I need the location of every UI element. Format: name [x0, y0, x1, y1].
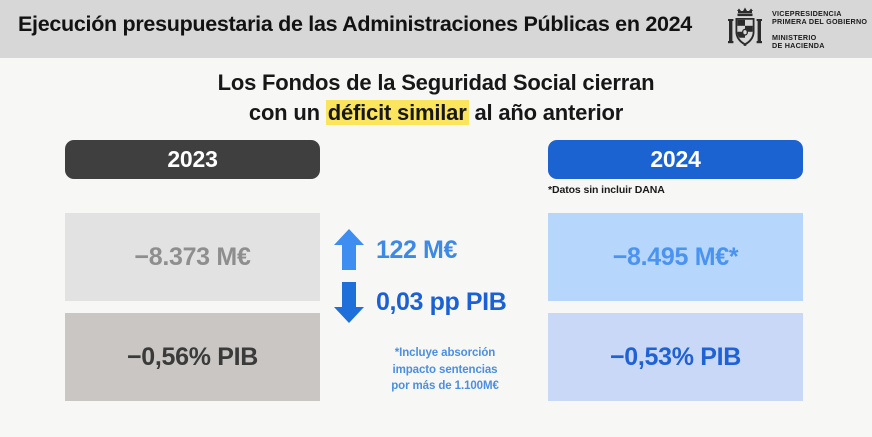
footnote-line-3: por más de 1.100M€	[350, 378, 540, 395]
value-box-2024-pib: −0,53% PIB	[548, 313, 803, 401]
arrow-down-icon	[332, 280, 366, 324]
value-box-2024-absolute: −8.495 M€*	[548, 213, 803, 301]
subtitle-line-2-prefix: con un	[249, 100, 326, 125]
subtitle-line-1: Los Fondos de la Seguridad Social cierra…	[0, 68, 872, 98]
page-title: Ejecución presupuestaria de las Administ…	[18, 12, 692, 37]
subtitle-line-2-suffix: al año anterior	[469, 100, 624, 125]
delta-row-absolute: 122 M€	[332, 225, 547, 275]
spain-coat-of-arms-icon	[726, 6, 764, 52]
dana-note: *Datos sin incluir DANA	[548, 184, 803, 196]
footnote-line-2: impacto sentencias	[350, 362, 540, 379]
delta-row-pib: 0,03 pp PIB	[332, 277, 547, 327]
subtitle: Los Fondos de la Seguridad Social cierra…	[0, 68, 872, 129]
delta-column: 122 M€ 0,03 pp PIB *Incluye absorción im…	[332, 225, 547, 395]
government-logo: VICEPRESIDENCIA PRIMERA DEL GOBIERNO MIN…	[726, 6, 867, 52]
column-2023: 2023	[65, 140, 320, 179]
logo-line-primera-del-gobierno: PRIMERA DEL GOBIERNO	[772, 18, 867, 26]
year-pill-2023: 2023	[65, 140, 320, 179]
logo-line-de-hacienda: DE HACIENDA	[772, 42, 867, 50]
government-logo-text: VICEPRESIDENCIA PRIMERA DEL GOBIERNO MIN…	[772, 8, 867, 49]
center-footnote: *Incluye absorción impacto sentencias po…	[350, 345, 540, 395]
delta-value-pib: 0,03 pp PIB	[376, 288, 506, 317]
value-box-2023-pib: −0,56% PIB	[65, 313, 320, 401]
footnote-line-1: *Incluye absorción	[350, 345, 540, 362]
arrow-up-icon	[332, 228, 366, 272]
subtitle-line-2: con un déficit similar al año anterior	[0, 98, 872, 128]
subtitle-highlight: déficit similar	[326, 100, 469, 125]
header-band: Ejecución presupuestaria de las Administ…	[0, 0, 872, 58]
value-box-2023-absolute: −8.373 M€	[65, 213, 320, 301]
year-pill-2024: 2024	[548, 140, 803, 179]
column-2024: 2024 *Datos sin incluir DANA	[548, 140, 803, 196]
delta-value-absolute: 122 M€	[376, 236, 457, 265]
